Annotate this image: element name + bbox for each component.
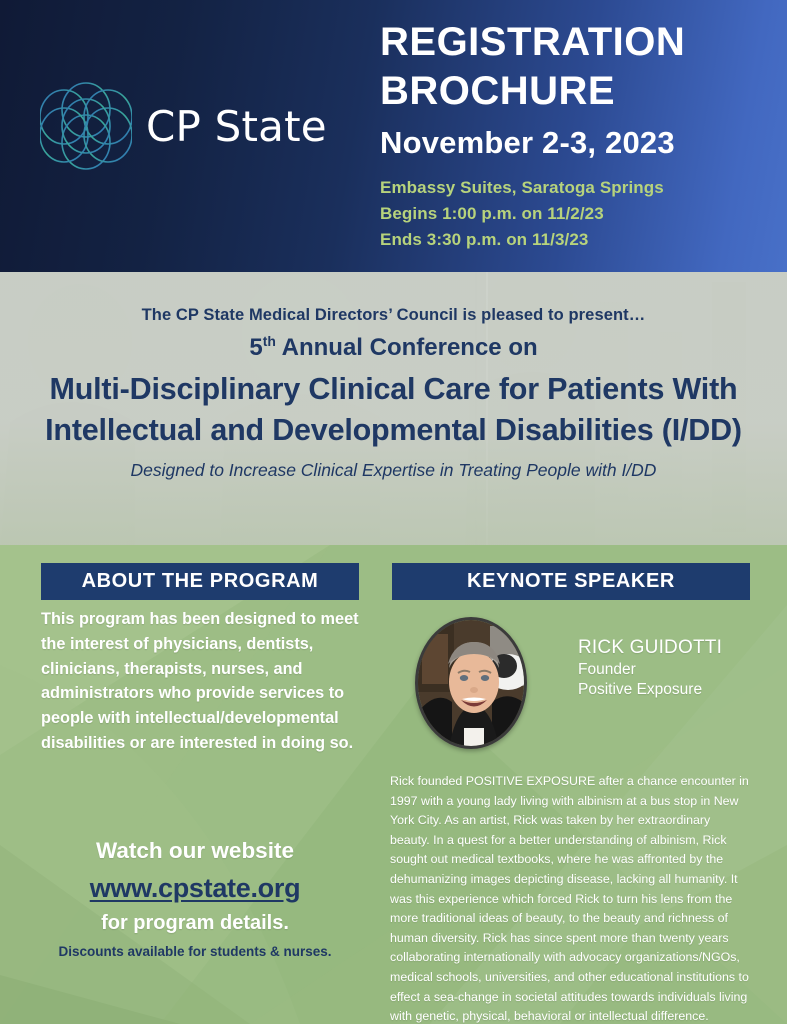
conference-subtitle: Designed to Increase Clinical Expertise … [0, 460, 787, 481]
brand-logo-text: CP State [146, 102, 327, 151]
conference-title-band: The CP State Medical Directors’ Council … [0, 272, 787, 545]
event-venue: Embassy Suites, Saratoga Springs [380, 175, 780, 201]
event-start-time: Begins 1:00 p.m. on 11/2/23 [380, 201, 780, 227]
conference-title-content: The CP State Medical Directors’ Council … [0, 272, 787, 481]
header-title-line1: REGISTRATION [380, 18, 780, 67]
flower-of-life-circles-logo [40, 74, 132, 178]
brand-logo[interactable]: CP State [40, 74, 327, 178]
details-content [0, 545, 787, 1024]
header-banner: CP State REGISTRATION BROCHURE November … [0, 0, 787, 272]
annual-conference-line: 5th Annual Conference on [0, 333, 787, 362]
event-date: November 2-3, 2023 [380, 124, 780, 161]
event-end-time: Ends 3:30 p.m. on 11/3/23 [380, 227, 780, 253]
header-title-line2: BROCHURE [380, 67, 780, 116]
details-section [0, 545, 787, 1024]
presented-by-line: The CP State Medical Directors’ Council … [0, 306, 787, 325]
conference-title: Multi-Disciplinary Clinical Care for Pat… [0, 369, 787, 450]
event-logistics: Embassy Suites, Saratoga Springs Begins … [380, 175, 780, 254]
annual-ordinal-suffix: th [263, 333, 276, 349]
registration-brochure: CP State REGISTRATION BROCHURE November … [0, 0, 787, 1024]
annual-rest: Annual Conference on [282, 334, 538, 361]
annual-number: 5 [249, 334, 262, 361]
header-title-block: REGISTRATION BROCHURE November 2-3, 2023… [380, 18, 780, 254]
